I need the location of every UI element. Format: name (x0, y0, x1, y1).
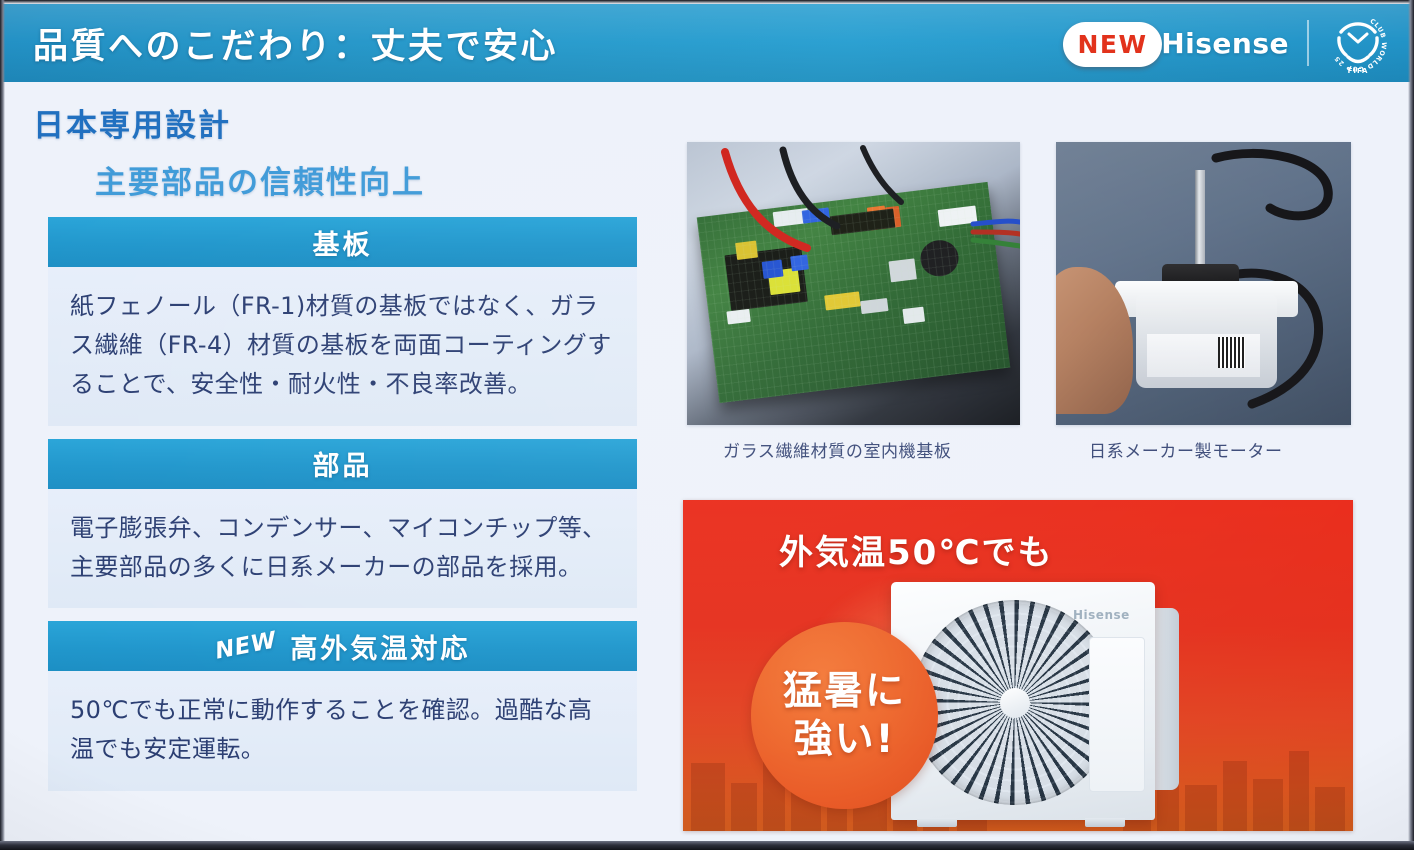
ac-fan-hub (1000, 688, 1030, 718)
motor-qr-code (1218, 337, 1245, 368)
section-header-pcb: 基板 (48, 217, 637, 267)
heat-resistance-badge: 猛暑に 強い! (751, 622, 938, 809)
slide-edge-right (1408, 0, 1414, 850)
caption-motor: 日系メーカー製モーター (1089, 437, 1283, 462)
section-header-high-temp: NEW 高外気温対応 (48, 621, 637, 671)
promo-new-badge: NEW (1063, 22, 1162, 67)
photo-japanese-motor (1056, 142, 1351, 425)
section-body-high-temp: 50℃でも正常に動作することを確認。過酷な高温でも安定運転。 (48, 671, 637, 791)
fifa-wordmark: FIFA (1327, 67, 1389, 75)
feature-section-pcb: 基板 紙フェノール（FR-1)材質の基板ではなく、ガラス繊維（FR-4）材質の基… (48, 217, 637, 426)
section-header-parts: 部品 (48, 439, 637, 489)
section-title-parts: 部品 (313, 444, 373, 483)
section-heading-block: 日本専用設計 主要部品の信頼性向上 (33, 100, 425, 202)
feature-section-high-temp: NEW 高外気温対応 50℃でも正常に動作することを確認。過酷な高温でも安定運転… (48, 621, 637, 791)
hisense-logo-text: Hisense (1161, 27, 1289, 60)
ac-fan-grille (912, 600, 1117, 805)
presentation-slide: 品質へのこだわり：丈夫で安心 Hisense CLUB WORLD CUP 25 (0, 0, 1414, 850)
ac-unit-brand-logo: Hisense (1073, 608, 1130, 622)
brand-divider (1307, 20, 1309, 66)
section-body-pcb: 紙フェノール（FR-1)材質の基板ではなく、ガラス繊維（FR-4）材質の基板を両… (48, 267, 637, 426)
heading-primary: 日本専用設計 (33, 100, 425, 145)
slide-edge-bottom (0, 841, 1414, 850)
badge-text-line-2: 強い! (794, 718, 896, 762)
brand-lockup: Hisense CLUB WORLD CUP 25 (1161, 12, 1389, 74)
new-badge-high-temp: NEW (213, 628, 279, 665)
slide-edge-left (0, 0, 5, 850)
ac-unit-foot-left (917, 818, 957, 827)
promo-new-badge-label: NEW (1077, 30, 1147, 59)
slide-edge-top (0, 0, 1414, 4)
ac-service-panel (1089, 637, 1145, 792)
slide-header-bar: 品質へのこだわり：丈夫で安心 Hisense CLUB WORLD CUP 25 (3, 4, 1411, 82)
motor-shaft (1195, 170, 1205, 272)
feature-section-parts: 部品 電子膨張弁、コンデンサー、マイコンチップ等、主要部品の多くに日系メーカーの… (48, 439, 637, 609)
section-body-parts: 電子膨張弁、コンデンサー、マイコンチップ等、主要部品の多くに日系メーカーの部品を… (48, 489, 637, 609)
fifa-club-world-cup-icon: CLUB WORLD CUP 25 FIFA (1327, 12, 1389, 74)
section-title-high-temp: 高外気温対応 (290, 627, 470, 666)
promo-headline: 外気温50℃でも (779, 525, 1054, 574)
page-title: 品質へのこだわり：丈夫で安心 (33, 18, 558, 69)
badge-text-line-1: 猛暑に (783, 670, 906, 714)
pcb-wire-harness (687, 142, 1020, 425)
photo-indoor-unit-pcb (687, 142, 1020, 425)
ac-unit-foot-right (1085, 818, 1125, 827)
section-title-pcb: 基板 (313, 223, 373, 262)
caption-pcb: ガラス繊維材質の室内機基板 (723, 437, 951, 462)
feature-section-list: 基板 紙フェノール（FR-1)材質の基板ではなく、ガラス繊維（FR-4）材質の基… (48, 217, 637, 804)
heading-secondary: 主要部品の信頼性向上 (95, 157, 425, 202)
